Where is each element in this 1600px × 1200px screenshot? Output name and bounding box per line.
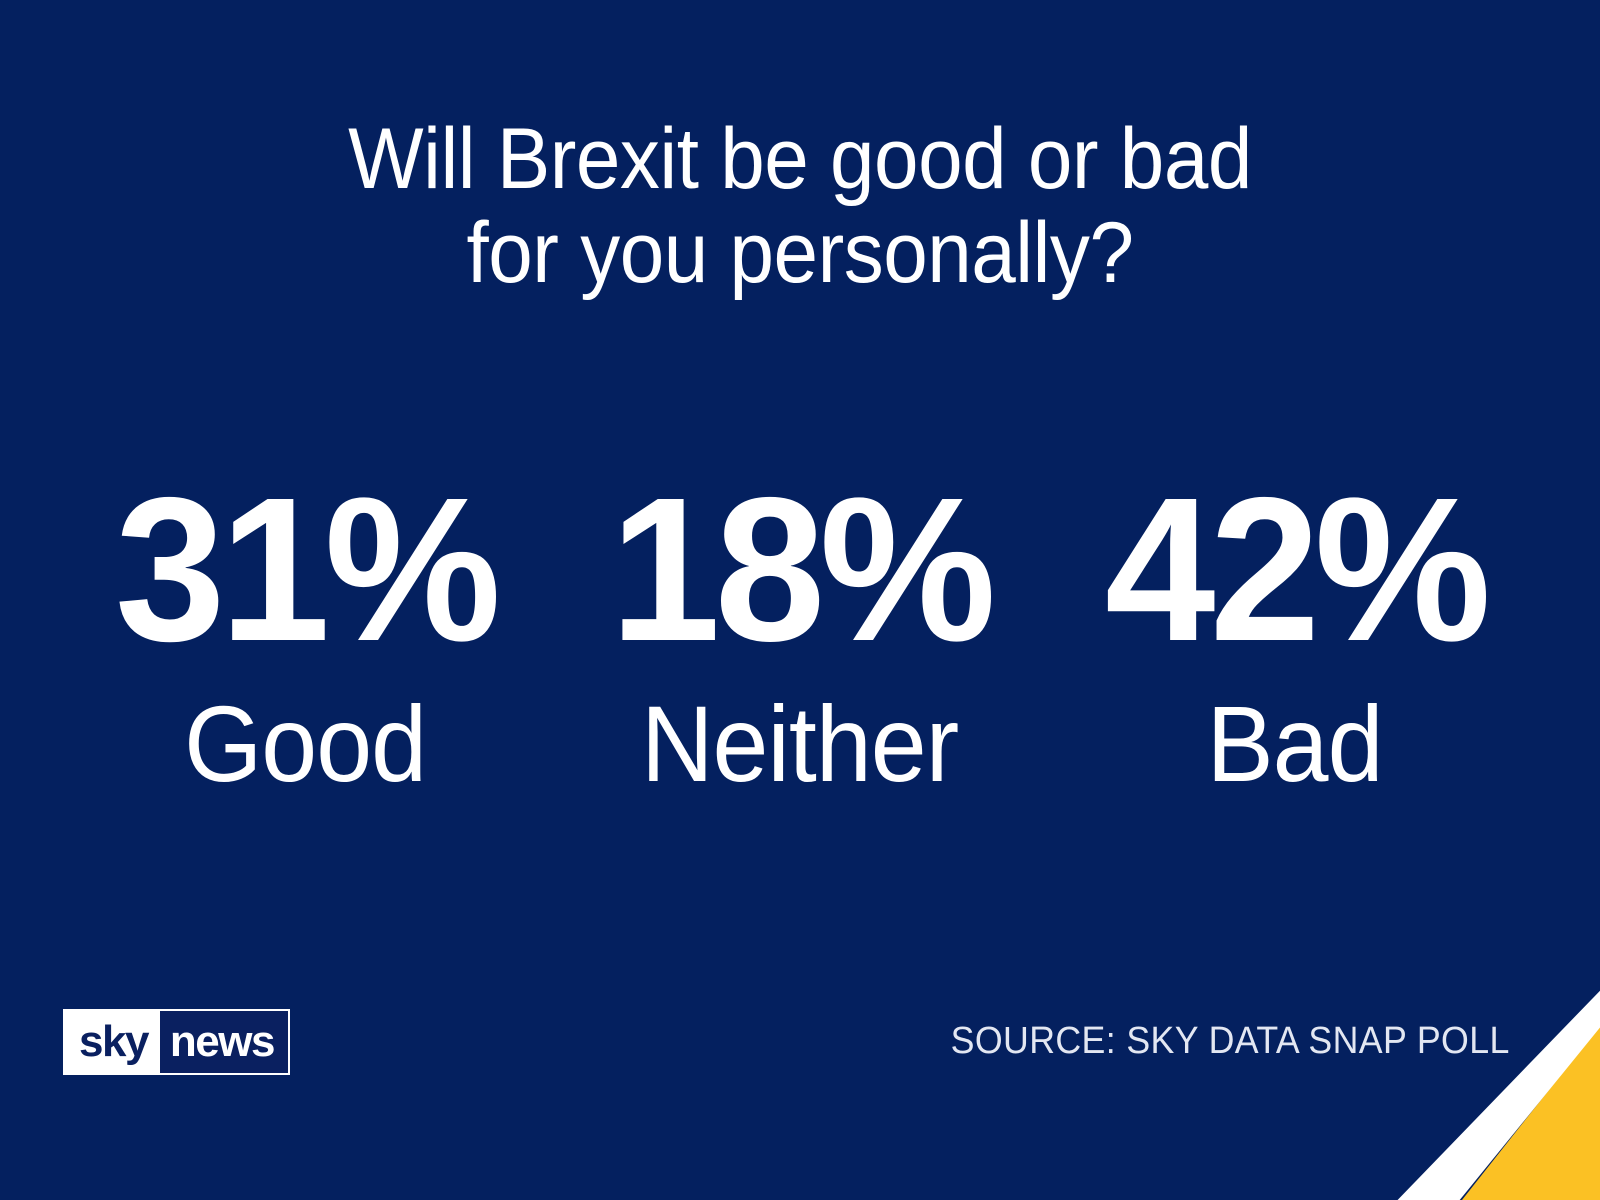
stats-row: 31% Good 18% Neither 42% Bad <box>70 470 1530 810</box>
stat-value-bad: 42% <box>1105 470 1486 670</box>
stat-bad: 42% Bad <box>1060 470 1530 800</box>
stat-neither: 18% Neither <box>565 470 1035 800</box>
corner-accent-decoration <box>1370 970 1600 1200</box>
source-credit: SOURCE: SKY DATA SNAP POLL <box>951 1018 1510 1064</box>
page-title: Will Brexit be good or bad for you perso… <box>56 112 1544 300</box>
sky-news-logo: sky news <box>63 1009 290 1075</box>
title-line-2: for you personally? <box>56 206 1544 300</box>
title-line-1: Will Brexit be good or bad <box>56 112 1544 206</box>
logo-news-text: news <box>160 1011 288 1073</box>
stat-good: 31% Good <box>70 470 540 800</box>
stat-value-neither: 18% <box>610 470 991 670</box>
stat-value-good: 31% <box>115 470 496 670</box>
stat-label-neither: Neither <box>641 688 958 800</box>
stat-label-bad: Bad <box>1207 688 1383 800</box>
stat-label-good: Good <box>184 688 426 800</box>
poll-graphic: Will Brexit be good or bad for you perso… <box>0 0 1600 1200</box>
logo-sky-text: sky <box>65 1011 160 1073</box>
accent-white-stripe <box>1370 970 1600 1200</box>
accent-yellow-triangle <box>1370 970 1600 1200</box>
